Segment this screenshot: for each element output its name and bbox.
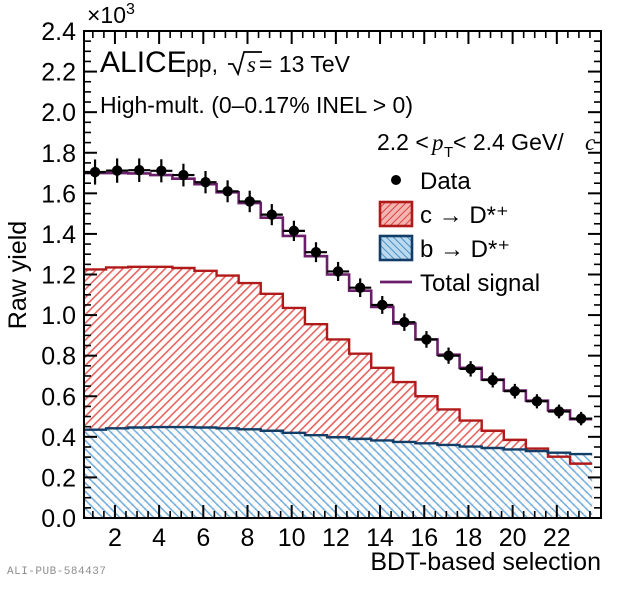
pt-symbol: p	[430, 130, 444, 155]
legend-label: c → D*⁺	[420, 202, 509, 229]
watermark: ALI-PUB-584437	[7, 566, 106, 578]
pt-c-italic: c	[585, 130, 595, 155]
multiplicity-label: High-mult. (0–0.17% INEL > 0)	[100, 92, 413, 118]
x-tick-label: 8	[241, 524, 255, 552]
raw-yield-chart: 0.00.20.40.60.81.01.21.41.61.82.02.22.42…	[0, 0, 620, 590]
legend-item: c → D*⁺	[380, 202, 509, 229]
y-tick-label: 1.0	[41, 302, 76, 330]
x-tick-label: 4	[152, 524, 166, 552]
pt-range-suffix: < 2.4 GeV/	[453, 129, 564, 155]
pt-range-prefix: 2.2 <	[377, 129, 429, 155]
y-tick-label: 1.6	[41, 180, 76, 208]
sqrt-s-italic: s	[247, 52, 256, 77]
x-tick-label: 2	[108, 524, 122, 552]
x-axis-title: BDT-based selection	[370, 548, 601, 576]
x-tick-label: 10	[278, 524, 306, 552]
y-tick-label: 1.4	[41, 221, 76, 249]
y-tick-label: 1.8	[41, 140, 76, 168]
y-tick-label: 0.0	[41, 505, 76, 533]
y-tick-label: 0.4	[41, 424, 76, 452]
x-tick-label: 6	[196, 524, 210, 552]
energy-label: = 13 TeV	[259, 51, 351, 77]
x-tick-label: 12	[322, 524, 350, 552]
y-tick-label: 0.2	[41, 464, 76, 492]
y-axis-title: Raw yield	[4, 221, 32, 329]
y-tick-label: 2.0	[41, 99, 76, 127]
legend-label: Data	[420, 168, 471, 195]
collision-system-label: pp,	[186, 51, 218, 77]
legend-label: b → D*⁺	[420, 236, 510, 263]
y-tick-label: 0.6	[41, 383, 76, 411]
y-tick-label: 2.4	[41, 18, 76, 46]
alice-label: ALICE	[100, 46, 187, 79]
y-tick-label: 0.8	[41, 343, 76, 371]
y-axis-exponent: ×103	[87, 1, 135, 28]
legend-item: b → D*⁺	[380, 236, 510, 263]
y-tick-label: 1.2	[41, 262, 76, 290]
pt-subscript: T	[444, 144, 453, 161]
y-tick-label: 2.2	[41, 59, 76, 87]
legend-label: Total signal	[420, 270, 540, 297]
